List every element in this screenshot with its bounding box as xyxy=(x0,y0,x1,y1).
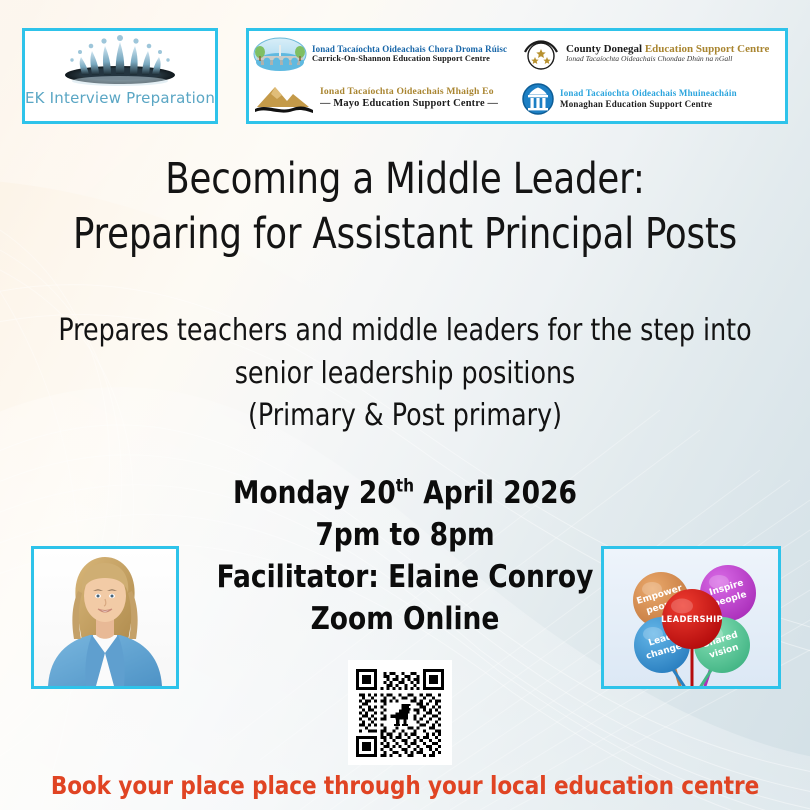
event-date: Monday 20th April 2026 xyxy=(20,472,790,514)
description-line-3: (Primary & Post primary) xyxy=(24,395,785,438)
education-centres-panel: Ionad Tacaíochta Oideachais Chora Droma … xyxy=(246,28,788,124)
event-date-suffix: April 2026 xyxy=(414,475,577,511)
centre-irish-name: Ionad Tacaíochta Oideachais Mhuineacháin xyxy=(560,88,737,98)
booking-footer: Book your place place through your local… xyxy=(16,771,794,800)
columns-circle-icon xyxy=(521,82,555,116)
qr-code-with-dinosaur-icon[interactable] xyxy=(356,669,444,757)
centre-irish-name: Ionad Tacaíochta Oideachais Mhaigh Eo xyxy=(320,87,498,98)
donegal-subtitle: Education Support Centre xyxy=(645,43,769,55)
description-line-1: Prepares teachers and middle leaders for… xyxy=(24,310,785,353)
centre-logo-carrick-on-shannon: Ionad Tacaíochta Oideachais Chora Droma … xyxy=(249,31,517,76)
logo-strip: EK Interview Preparation xyxy=(0,28,810,128)
donegal-name: County Donegal xyxy=(566,43,642,55)
centre-logo-monaghan: Ionad Tacaíochta Oideachais Mhuineacháin… xyxy=(517,76,785,121)
title-line-2: Preparing for Assistant Principal Posts xyxy=(32,207,777,262)
centre-english-name: — Mayo Education Support Centre — xyxy=(320,98,498,110)
centre-english-name: Carrick-On-Shannon Education Support Cen… xyxy=(312,54,507,63)
bridge-over-river-icon xyxy=(253,34,307,74)
qr-code[interactable] xyxy=(348,660,452,765)
facilitator-photo xyxy=(31,546,179,689)
mountain-range-icon xyxy=(253,81,315,117)
poster-description: Prepares teachers and middle leaders for… xyxy=(24,310,785,438)
description-line-2: senior leadership positions xyxy=(24,353,785,396)
event-date-prefix: Monday 20 xyxy=(233,475,396,511)
centre-logo-mayo: Ionad Tacaíochta Oideachais Mhaigh Eo — … xyxy=(249,76,517,121)
leadership-balloons-graphic: Empower people Inspire people Lead chang… xyxy=(601,546,781,689)
poster-title: Becoming a Middle Leader: Preparing for … xyxy=(32,152,777,262)
portrait-photo xyxy=(34,549,176,686)
ek-interview-preparation-logo: EK Interview Preparation xyxy=(22,28,218,124)
event-date-ordinal: th xyxy=(396,476,414,497)
water-crown-splash-icon xyxy=(45,34,195,88)
eye-with-stars-icon xyxy=(521,34,561,74)
centre-english-name: Monaghan Education Support Centre xyxy=(560,99,737,109)
leadership-balloons-icon: Empower people Inspire people Lead chang… xyxy=(604,549,778,686)
centre-logo-county-donegal: County Donegal Education Support Centre … xyxy=(517,31,785,76)
ek-logo-label: EK Interview Preparation xyxy=(25,89,215,107)
centre-irish-name: Ionad Tacaíochta Oideachais Chondae Dhún… xyxy=(566,55,769,64)
balloon-center-label: LEADERSHIP xyxy=(661,614,723,624)
title-line-1: Becoming a Middle Leader: xyxy=(32,152,777,207)
event-poster: EK Interview Preparation xyxy=(0,0,810,810)
centre-irish-name: Ionad Tacaíochta Oideachais Chora Droma … xyxy=(312,44,507,54)
